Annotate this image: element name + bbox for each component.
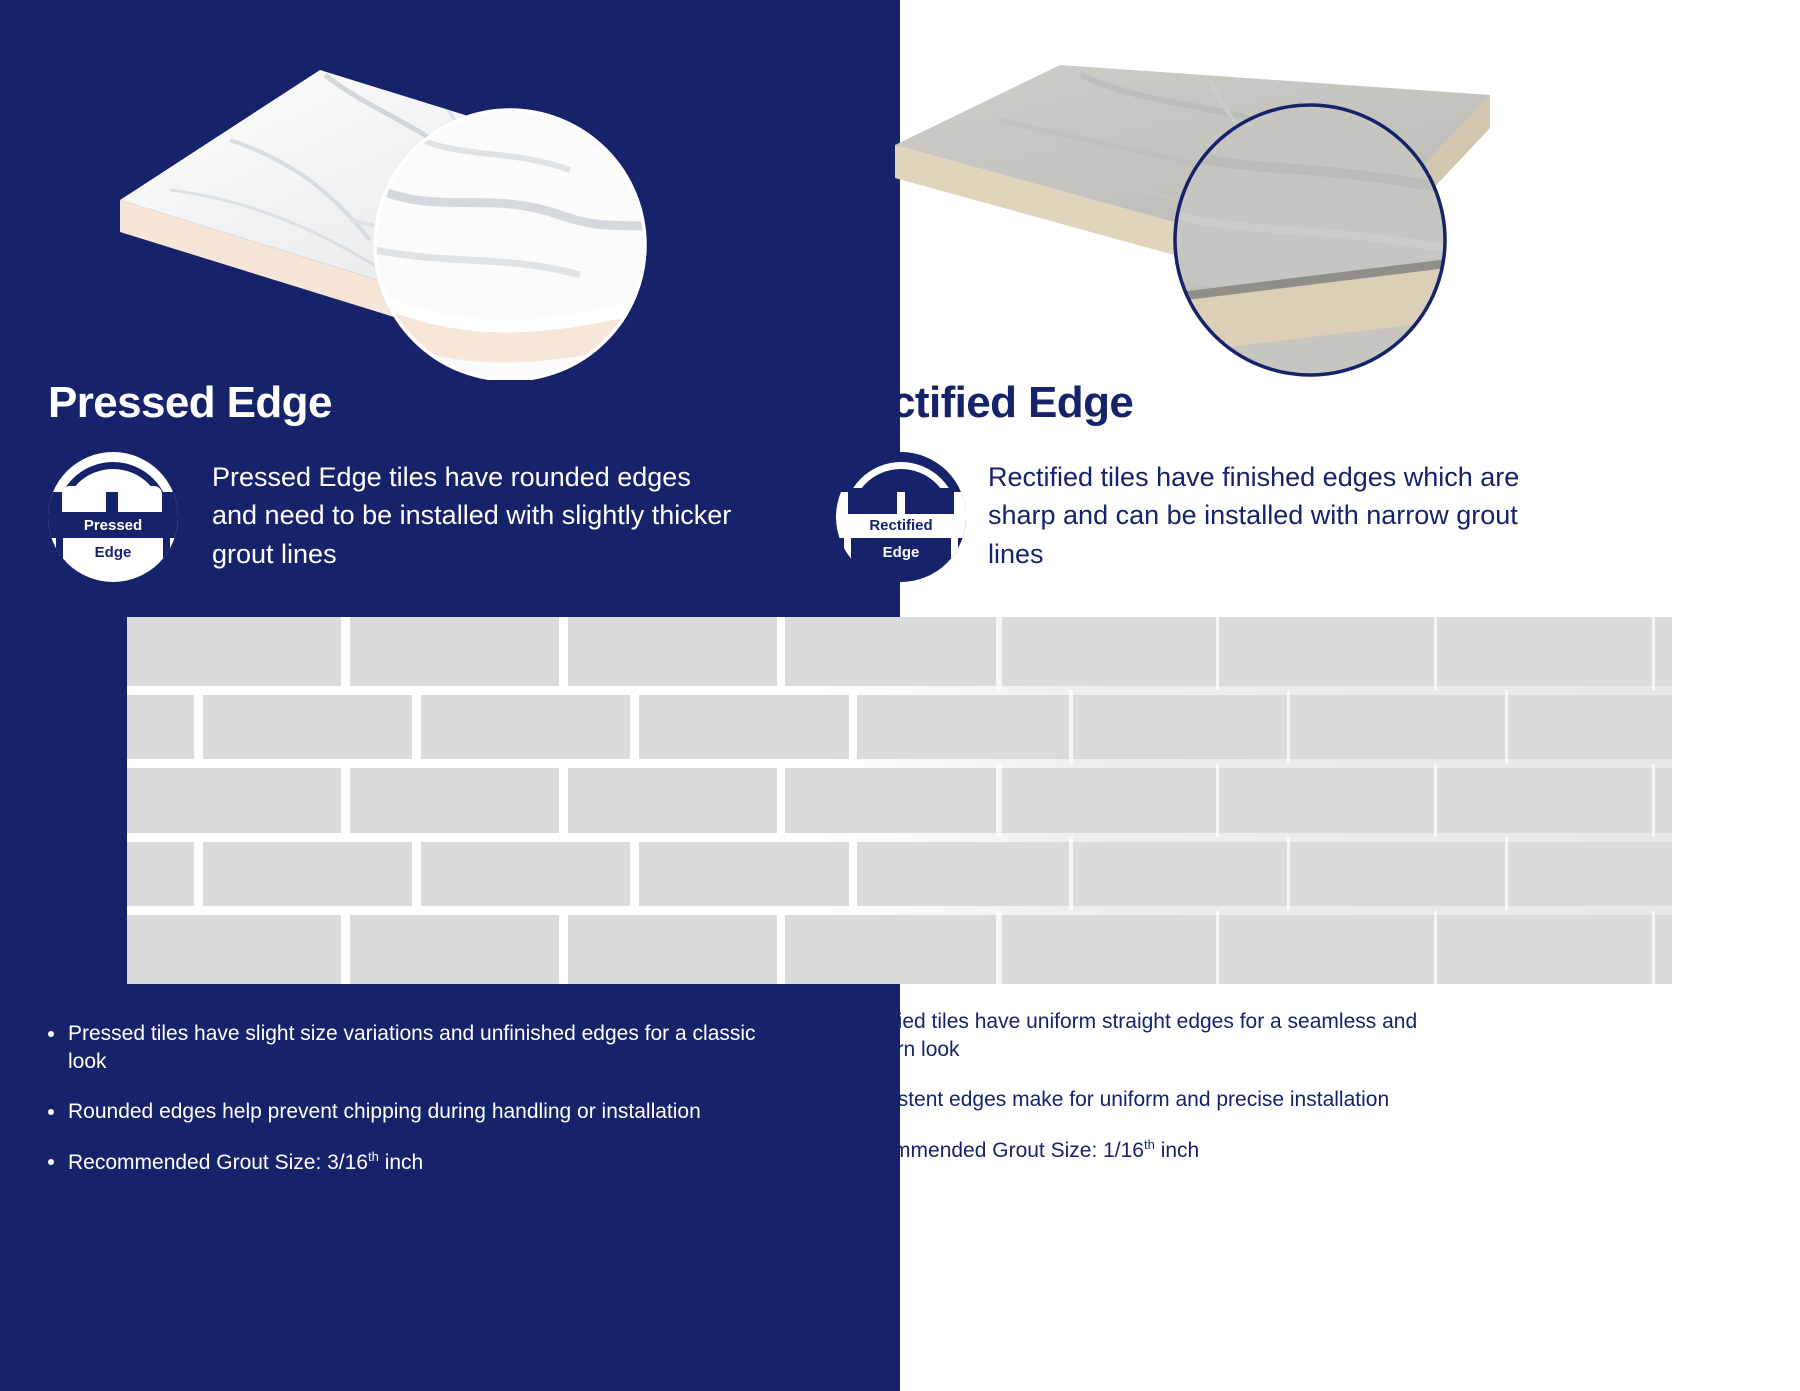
- grout-line-vertical: [1216, 911, 1219, 984]
- grout-line-vertical: [996, 764, 1001, 837]
- grout-line-vertical: [1434, 911, 1437, 984]
- grout-line-vertical: [1434, 764, 1437, 837]
- rectified-badge-top-label: Rectified: [836, 514, 966, 538]
- grout-line-horizontal: [127, 906, 1672, 915]
- pressed-badge-top-label: Pressed: [48, 514, 178, 538]
- grout-line-vertical: [849, 690, 856, 763]
- grout-line-vertical: [1652, 911, 1655, 984]
- subway-tile-wall: [127, 617, 1672, 984]
- bullet-item: Rounded edges help prevent chipping duri…: [44, 1098, 764, 1126]
- grout-line-vertical: [777, 617, 785, 690]
- pressed-edge-bullets: Pressed tiles have slight size variation…: [44, 1020, 764, 1200]
- bullet-item: Consistent edges make for uniform and pr…: [820, 1086, 1470, 1114]
- grout-line-vertical: [1216, 764, 1219, 837]
- grout-line-vertical: [1652, 764, 1655, 837]
- grout-line-horizontal: [127, 759, 1672, 768]
- rectified-edge-description: Rectified tiles have finished edges whic…: [988, 458, 1528, 573]
- grout-line-vertical: [341, 617, 350, 690]
- grout-line-vertical: [1505, 690, 1508, 763]
- pressed-tile-right-icon: [118, 486, 162, 512]
- pressed-edge-title: Pressed Edge: [48, 378, 332, 428]
- bullet-item: Rectified tiles have uniform straight ed…: [820, 1008, 1470, 1064]
- grout-line-vertical: [1434, 617, 1437, 690]
- grout-line-vertical: [194, 690, 203, 763]
- grout-line-vertical: [1069, 837, 1073, 910]
- grout-line-vertical: [1287, 690, 1290, 763]
- rectified-tile-left-icon: [848, 488, 897, 514]
- stone-tile-perspective-with-magnifier: [880, 40, 1500, 380]
- grout-line-vertical: [777, 764, 785, 837]
- grout-line-vertical: [1652, 617, 1655, 690]
- grout-line-vertical: [777, 911, 785, 984]
- grout-line-vertical: [341, 764, 350, 837]
- pressed-tile-left-icon: [62, 486, 106, 512]
- rectified-edge-bullets: Rectified tiles have uniform straight ed…: [820, 1008, 1470, 1188]
- pressed-edge-badge: Pressed Edge: [48, 452, 178, 582]
- pressed-edge-description: Pressed Edge tiles have rounded edges an…: [212, 458, 742, 573]
- pressed-badge-bottom-label: Edge: [48, 544, 178, 561]
- grout-line-vertical: [1216, 617, 1219, 690]
- grout-line-vertical: [1287, 837, 1290, 910]
- grout-line-vertical: [996, 617, 1001, 690]
- rectified-edge-title: Rectified Edge: [836, 378, 1133, 428]
- bullet-item: Pressed tiles have slight size variation…: [44, 1020, 764, 1076]
- grout-line-vertical: [849, 837, 856, 910]
- rectified-tile-right-icon: [905, 488, 954, 514]
- grout-line-vertical: [559, 617, 568, 690]
- grout-line-vertical: [630, 690, 639, 763]
- grout-line-vertical: [1505, 837, 1508, 910]
- grout-line-horizontal: [127, 833, 1672, 842]
- grout-line-vertical: [412, 690, 421, 763]
- grout-line-horizontal: [127, 686, 1672, 695]
- grout-line-vertical: [1069, 690, 1073, 763]
- marble-tile-perspective-with-magnifier: [110, 40, 670, 380]
- grout-line-vertical: [630, 837, 639, 910]
- grout-line-vertical: [996, 911, 1001, 984]
- grout-line-vertical: [559, 911, 568, 984]
- grout-line-vertical: [341, 911, 350, 984]
- rectified-edge-badge: Rectified Edge: [836, 452, 966, 582]
- rectified-badge-bottom-label: Edge: [836, 544, 966, 561]
- bullet-item: Recommended Grout Size: 1/16th inch: [820, 1136, 1470, 1165]
- bullet-item: Recommended Grout Size: 3/16th inch: [44, 1148, 764, 1177]
- grout-line-vertical: [412, 837, 421, 910]
- grout-line-vertical: [559, 764, 568, 837]
- grout-line-vertical: [194, 837, 203, 910]
